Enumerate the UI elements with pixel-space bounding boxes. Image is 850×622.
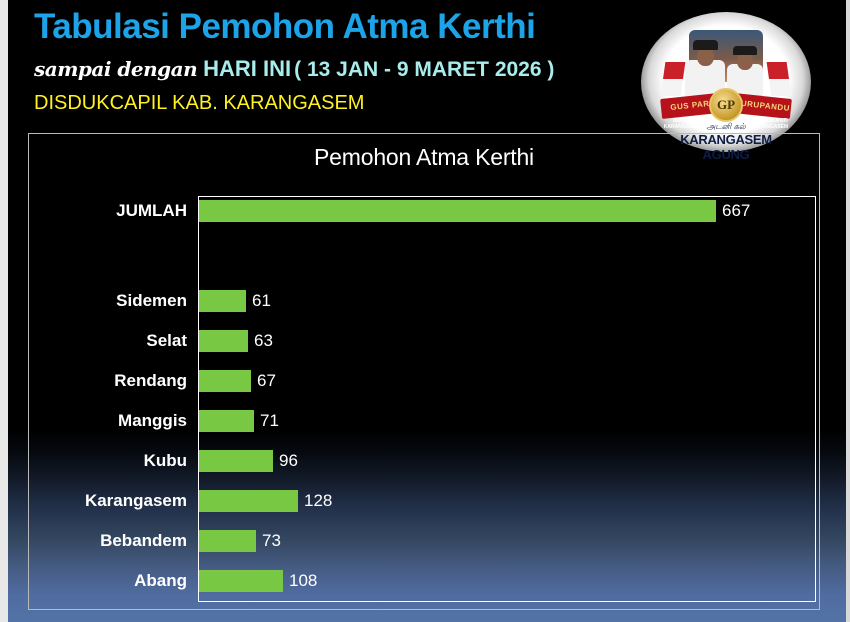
bar-value-label: 96 [279,447,298,475]
bar-value-label: 667 [722,197,750,225]
subtitle-hari-ini: HARI INI [203,56,291,81]
bar-row: Rendang67 [29,367,821,395]
bar-row-label: Sidemen [29,287,187,315]
bar-row-label: Abang [29,567,187,595]
bar [199,490,298,512]
logo-balinese-script: அடனி கல் [659,122,793,132]
bar [199,200,716,222]
page-title: Tabulasi Pemohon Atma Kerthi [34,4,634,49]
bar-value-label: 67 [257,367,276,395]
chart-title: Pemohon Atma Kerthi [29,144,819,171]
flag-right-icon [767,62,792,96]
bar-row-label: Karangasem [29,487,187,515]
bar-value-label: 63 [254,327,273,355]
bar-row: Kubu96 [29,447,821,475]
bar-row: Manggis71 [29,407,821,435]
logo-inner: GUS PAR GURUPANDU GP BUPATI KARANGASEM W… [659,22,793,142]
bar [199,290,246,312]
left-edge-strip [0,0,8,622]
bar-row: Karangasem128 [29,487,821,515]
bar-row-label: Bebandem [29,527,187,555]
bar-row-label: Rendang [29,367,187,395]
bar-value-label: 61 [252,287,271,315]
bar-value-label: 108 [289,567,317,595]
right-edge-strip [846,0,850,622]
subtitle-date-range: ( 13 JAN - 9 MARET 2026 ) [294,58,554,81]
bar-row: Bebandem73 [29,527,821,555]
subtitle-script-text: sampai dengan [34,57,197,81]
bar [199,570,283,592]
bar-row-label: Manggis [29,407,187,435]
slide-canvas: Tabulasi Pemohon Atma Kerthi sampai deng… [0,0,850,622]
office-name: DISDUKCAPIL KAB. KARANGASEM [34,89,634,117]
logo-medal-icon: GP [709,88,743,122]
bar [199,370,251,392]
person-left-hat [693,40,718,50]
bar [199,450,273,472]
subtitle-line: sampai denganHARI INI( 13 JAN - 9 MARET … [34,54,634,87]
bar-value-label: 73 [262,527,281,555]
person-right-hat [733,46,757,55]
bar-value-label: 71 [260,407,279,435]
bar-row: JUMLAH667 [29,197,821,225]
bar-row-label: Selat [29,327,187,355]
bar-row: Sidemen61 [29,287,821,315]
bar [199,410,254,432]
bar-row: Selat63 [29,327,821,355]
bar-value-label: 128 [304,487,332,515]
header-block: Tabulasi Pemohon Atma Kerthi sampai deng… [34,4,634,117]
karangasem-agung-logo: GUS PAR GURUPANDU GP BUPATI KARANGASEM W… [641,12,811,152]
bar-row: Abang108 [29,567,821,595]
bar-row-label: Kubu [29,447,187,475]
bar-row-label: JUMLAH [29,197,187,225]
bar [199,330,248,352]
flag-left-icon [661,62,686,96]
chart-frame: Pemohon Atma Kerthi JUMLAH667Sidemen61Se… [28,133,820,610]
bar [199,530,256,552]
